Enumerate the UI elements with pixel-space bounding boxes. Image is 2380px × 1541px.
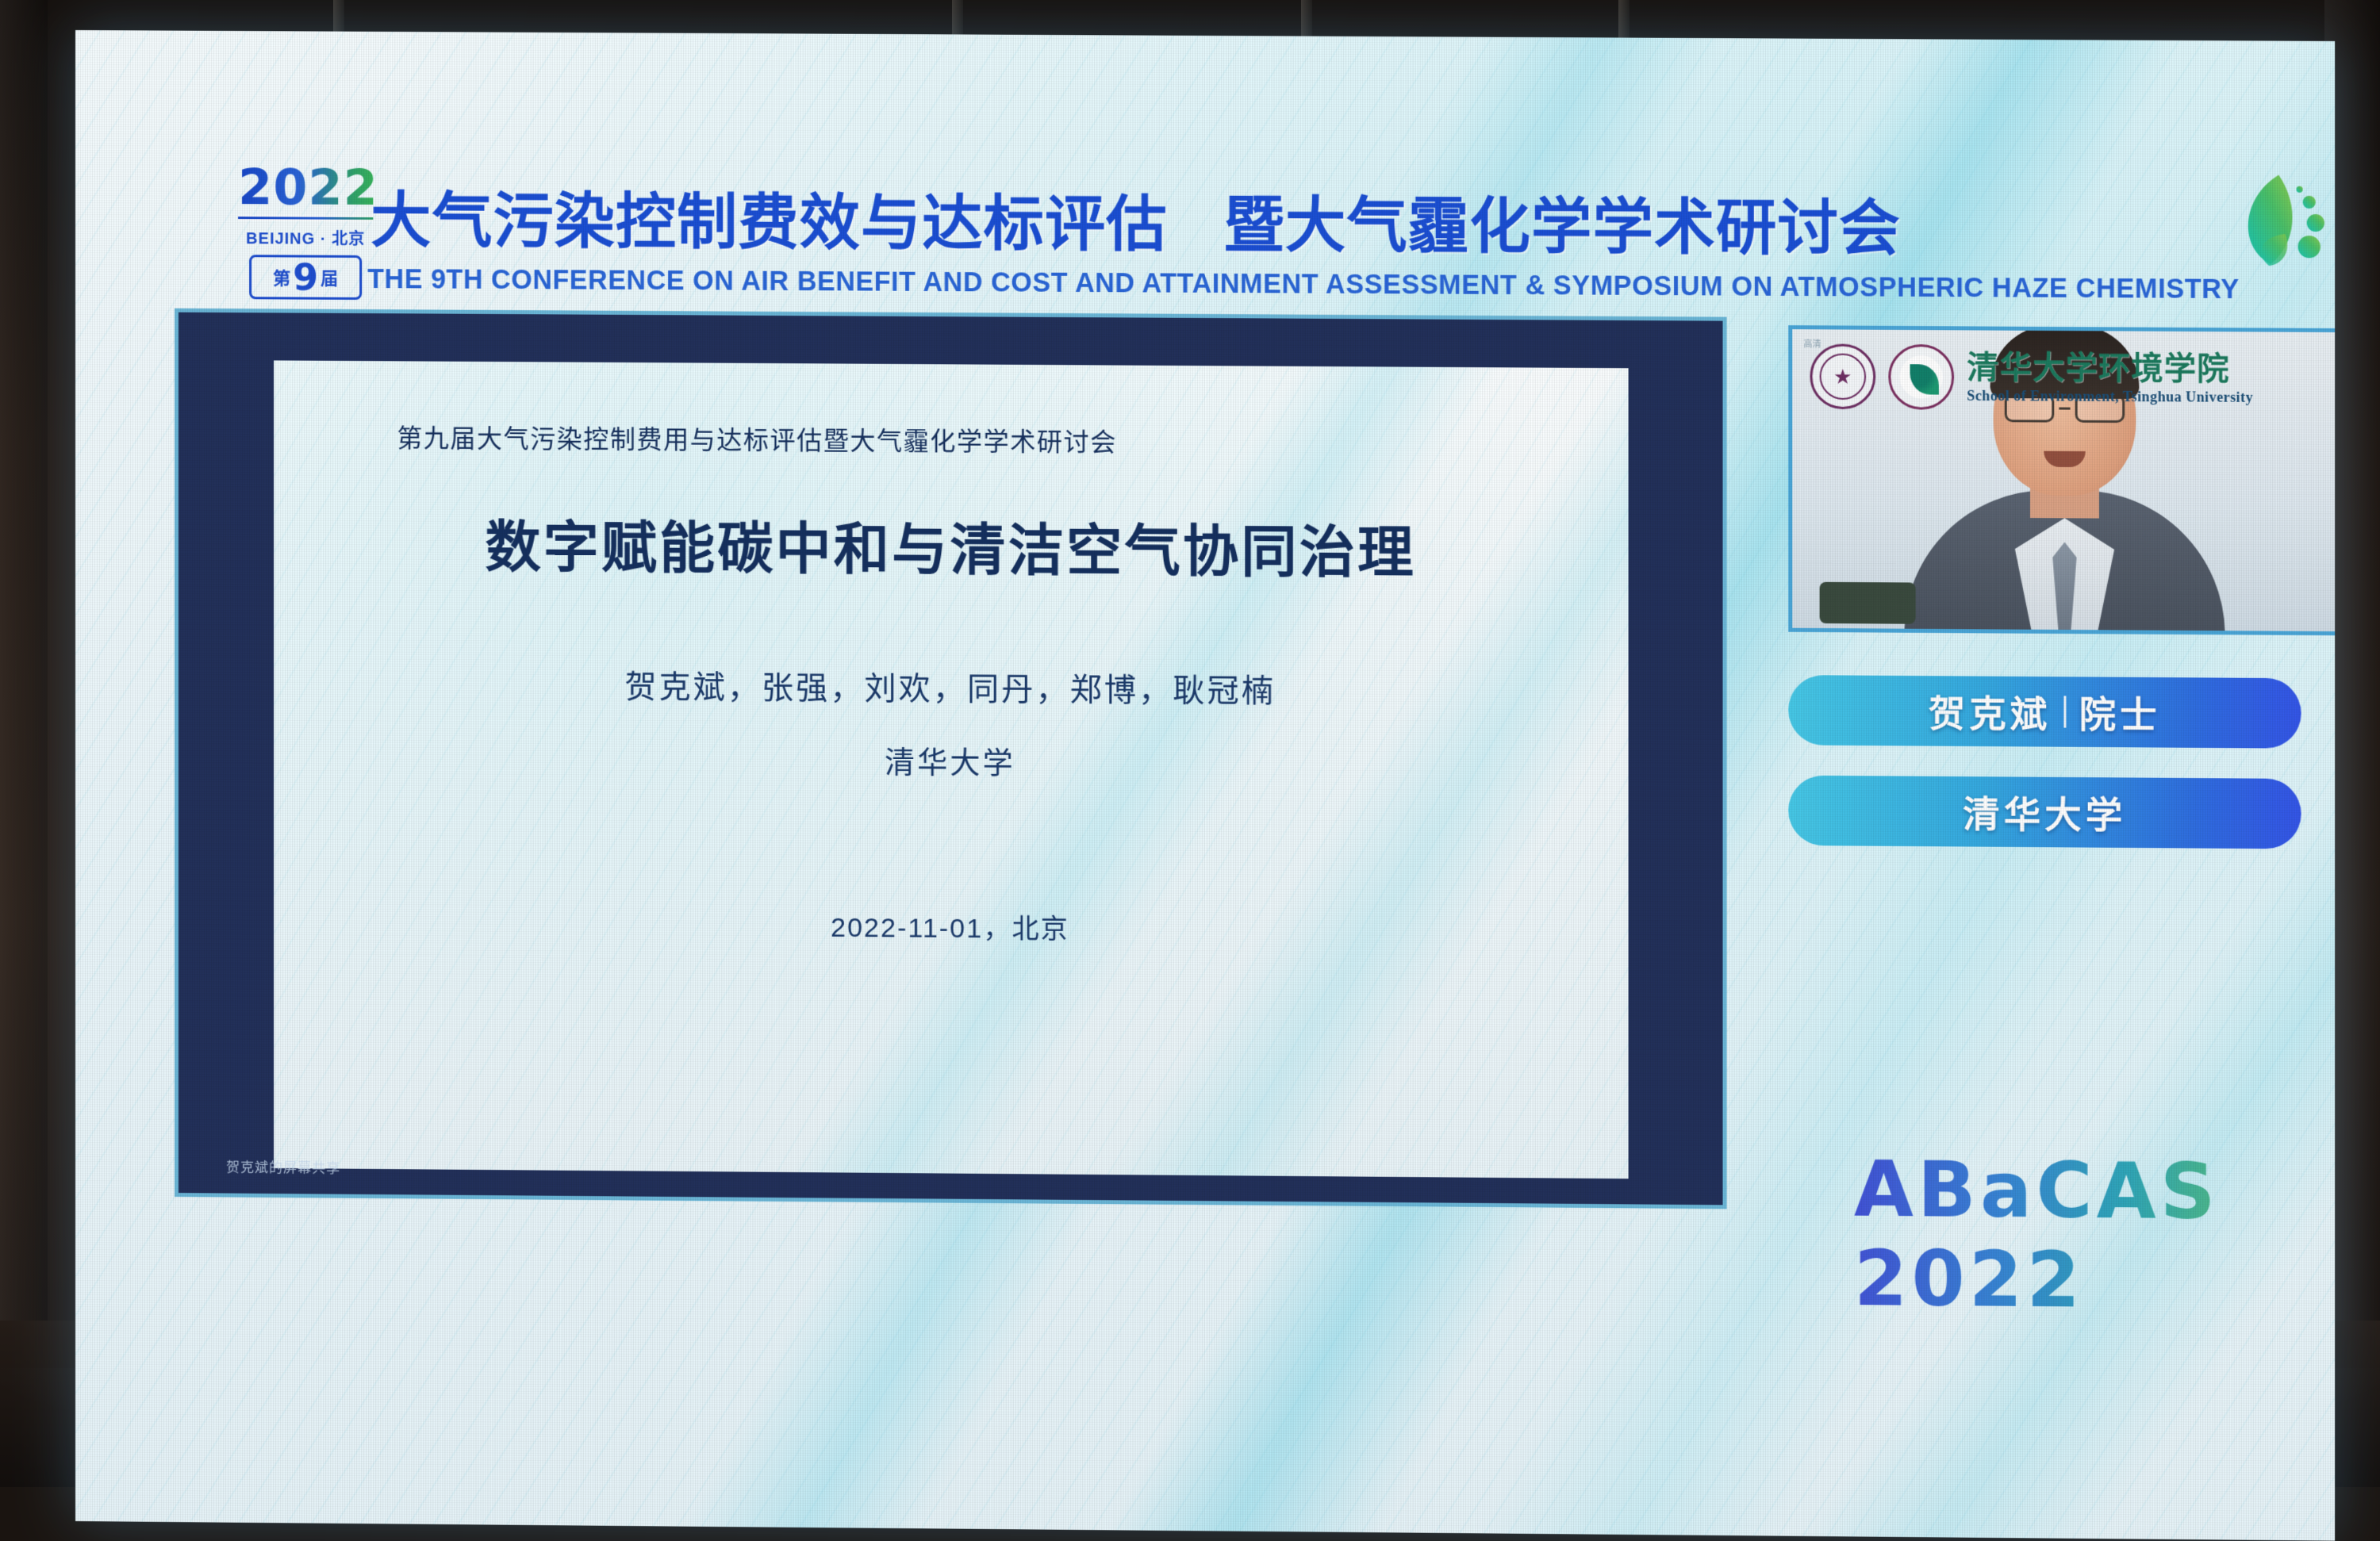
conference-logo: 2022 BEIJING · 北京 第 9 届 <box>238 164 373 300</box>
institute-names: 清华大学环境学院 School of Environment, Tsinghua… <box>1967 351 2253 405</box>
desk-object <box>1820 582 1916 624</box>
conference-header: 2022 BEIJING · 北京 第 9 届 大气污染控制费效与达标评估 暨大… <box>75 30 2335 297</box>
speaker-panel: 高清 清华大学环境学院 <box>1788 325 2335 849</box>
leaf-icon <box>2223 160 2336 281</box>
video-corner-tag: 高清 <box>1803 337 1821 350</box>
title-cn-part1: 大气污染控制费效与达标评估 <box>370 187 1167 259</box>
conference-title-cn: 大气污染控制费效与达标评估 暨大气霾化学学术研讨会 <box>370 171 1900 267</box>
badge-separator <box>2063 696 2066 727</box>
ordinal-number: 9 <box>293 259 318 295</box>
speaker-organization-badge: 清华大学 <box>1788 776 2301 849</box>
slide-authors: 贺克斌，张强，刘欢，同丹，郑博，耿冠楠 <box>274 659 1628 714</box>
presentation-slide-frame: 贺克斌的屏幕共享 第九届大气污染控制费用与达标评估暨大气霾化学学术研讨会 数字赋… <box>175 309 1727 1209</box>
slide-date: 2022-11-01，北京 <box>274 902 1628 950</box>
screen-share-label: 贺克斌的屏幕共享 <box>226 1156 340 1176</box>
slide-title: 数字赋能碳中和与清洁空气协同治理 <box>274 502 1628 591</box>
environment-leaf-seal-icon <box>1888 344 1954 410</box>
slide-affiliation: 清华大学 <box>274 734 1628 787</box>
presentation-slide: 第九届大气污染控制费用与达标评估暨大气霾化学学术研讨会 数字赋能碳中和与清洁空气… <box>274 360 1628 1179</box>
institute-logo-overlay: 清华大学环境学院 School of Environment, Tsinghua… <box>1810 343 2253 412</box>
speaker-role: 院士 <box>2079 685 2161 738</box>
logo-ordinal: 第 9 届 <box>249 255 362 300</box>
backdrop-panel-left <box>0 0 48 1487</box>
title-cn-part2: 暨大气霾化学学术研讨会 <box>1223 192 1900 263</box>
tsinghua-seal-icon <box>1810 343 1875 409</box>
speaker-name-badge: 贺克斌 院士 <box>1788 675 2301 749</box>
ordinal-suffix: 届 <box>321 265 338 290</box>
slide-kicker: 第九届大气污染控制费用与达标评估暨大气霾化学学术研讨会 <box>397 418 1117 458</box>
institute-name-en: School of Environment, Tsinghua Universi… <box>1967 387 2253 405</box>
institute-name-cn: 清华大学环境学院 <box>1967 350 2229 386</box>
logo-city: BEIJING · 北京 <box>238 225 373 249</box>
speaker-video-feed[interactable]: 高清 清华大学环境学院 <box>1788 325 2335 635</box>
speaker-figure <box>1896 397 2232 635</box>
event-logo: ABaCAS 2022 <box>1854 1144 2335 1327</box>
speaker-name: 贺克斌 <box>1929 684 2051 738</box>
ordinal-prefix: 第 <box>273 264 290 289</box>
logo-year: 2022 <box>238 164 373 212</box>
led-screen: 2022 BEIJING · 北京 第 9 届 大气污染控制费效与达标评估 暨大… <box>75 30 2335 1541</box>
